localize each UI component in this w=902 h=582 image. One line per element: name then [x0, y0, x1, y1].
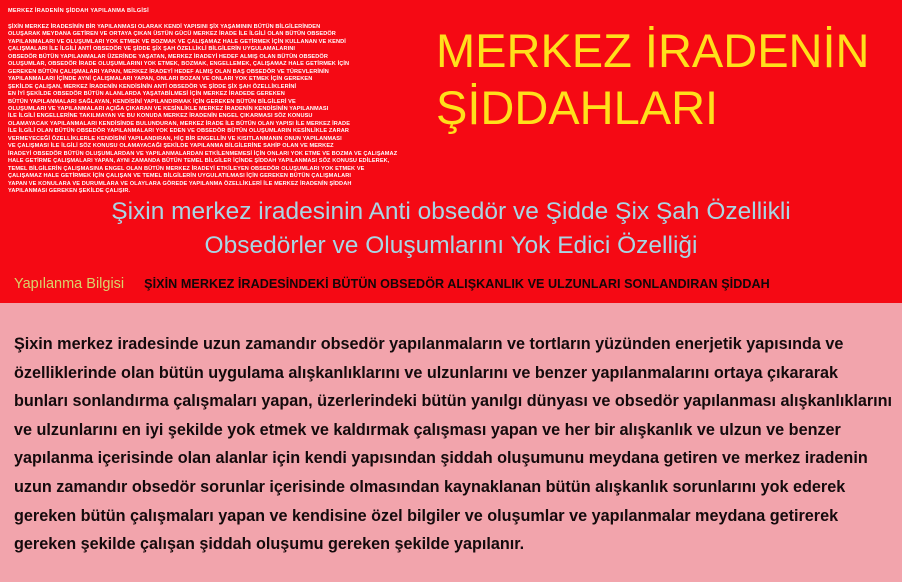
pink-body-region: Şixin merkez iradesinde uzun zamandır ob…: [0, 303, 902, 582]
section-label-tag: Yapılanma Bilgisi: [14, 276, 124, 292]
fineprint-line: ÇALIŞAMAZ HALE GETİRMEK İÇİN ÇALIŞAN VE …: [8, 173, 370, 180]
page-subtitle: Şixin merkez iradesinin Anti obsedör ve …: [0, 195, 902, 263]
page-title: MERKEZ İRADENİN ŞİDDAHLARI: [436, 22, 898, 136]
fineprint-heading: MERKEZ İRADENİN ŞİDDAH YAPILANMA BİLGİSİ: [8, 7, 308, 15]
body-text-block: Şixin merkez iradesinde uzun zamandır ob…: [14, 330, 892, 559]
slide-page: MERKEZ İRADENİN ŞİDDAH YAPILANMA BİLGİSİ…: [0, 0, 902, 582]
fineprint-line: OLUŞUMLAR, OBSEDÖR İRADE OLUŞUMLARINI YO…: [8, 61, 370, 68]
fineprint-line: BÜTÜN YAPILANMALARI SAĞLAYAN, KENDİSİNİ …: [8, 99, 370, 106]
fineprint-line: ÇALIŞMALARI İLE İLGİLİ ANTİ OBSEDÖR VE Ş…: [8, 46, 370, 53]
page-title-line-1: MERKEZ İRADENİN: [436, 22, 898, 79]
red-banner-region: MERKEZ İRADENİN ŞİDDAH YAPILANMA BİLGİSİ…: [0, 0, 902, 303]
fineprint-line: HALE GETİRME ÇALIŞMALARI YAPAN, AYNI ZAM…: [8, 158, 370, 165]
body-paragraph: Şixin merkez iradesinde uzun zamandır ob…: [14, 330, 892, 559]
fineprint-line: ŞEKİLDE ÇALIŞAN, MERKEZ İRADENİN KENDİSİ…: [8, 84, 370, 91]
fineprint-line: EN İYİ ŞEKİLDE OBSEDÖR BÜTÜN ALANLARDA Y…: [8, 91, 370, 98]
page-subtitle-line-1: Şixin merkez iradesinin Anti obsedör ve …: [0, 195, 902, 229]
fineprint-line: TEMEL BİLGİLERİN ÇALIŞMASINA ENGEL OLAN …: [8, 166, 370, 173]
fineprint-line: OLUŞARAK MEYDANA GETİREN VE ORTAYA ÇIKAN…: [8, 31, 370, 38]
fineprint-line: YAPILANMALARI İÇİNDE AYNİ ÇALIŞMALARI YA…: [8, 76, 370, 83]
fineprint-line: İLE İLGİLİ ENGELLERİNE TAKILMAYAN VE BU …: [8, 113, 370, 120]
section-label-caption: ŞİXİN MERKEZ İRADESİNDEKİ BÜTÜN OBSEDÖR …: [144, 277, 770, 291]
page-subtitle-line-2: Obsedörler ve Oluşumlarını Yok Edici Öze…: [0, 229, 902, 263]
fineprint-line: VE ÇALIŞMASI İLE İLGİLİ SÖZ KONUSU OLAMA…: [8, 143, 370, 150]
section-label-row: Yapılanma Bilgisi ŞİXİN MERKEZ İRADESİND…: [0, 272, 902, 296]
fineprint-body: ŞİXİN MERKEZ İRADESİNİN BİR YAPILANMASI …: [8, 24, 370, 195]
page-title-line-2: ŞİDDAHLARI: [436, 79, 898, 136]
fineprint-line: YAPAN VE KONULARA VE DURUMLARA VE OLAYLA…: [8, 181, 370, 188]
fineprint-line: İLE İLGİLİ OLAN BÜTÜN OBSEDÖR YAPILANMAL…: [8, 128, 370, 135]
